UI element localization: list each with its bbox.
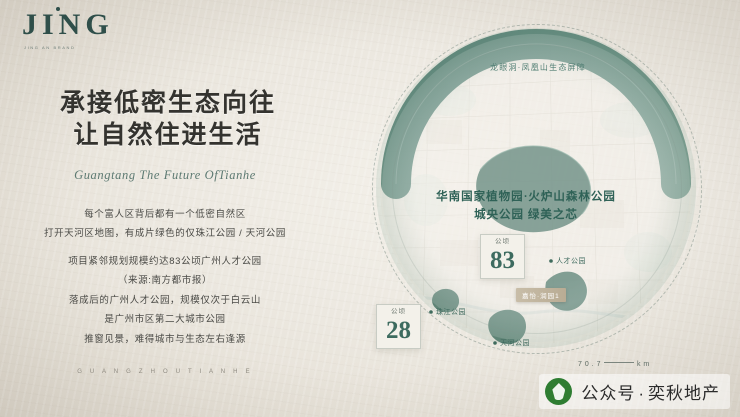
body-line-3: 项目紧邻规划规模约达83公顷广州人才公园 <box>0 252 330 271</box>
copy-spacer <box>0 244 330 252</box>
headline-line-1: 承接低密生态向往 <box>60 90 276 117</box>
map-pin-icon <box>492 340 498 346</box>
brand-logo-subtitle: JING AN BRAND <box>24 45 114 50</box>
subtitle-english: Guangtang The Future OfTianhe <box>0 168 330 183</box>
scale-value: 7 0 . 7 <box>578 361 601 368</box>
watermark: 公众号·奕秋地产 <box>539 374 730 409</box>
map-pin-icon <box>548 258 554 264</box>
headline-line-2: 让自然住进生活 <box>6 120 330 152</box>
copy-panel: 承接低密生态向往 让自然住进生活 Guangtang The Future Of… <box>0 88 330 375</box>
estate-marker: 嘉怡·润园1 <box>516 288 566 302</box>
scale-unit: k m <box>637 361 650 368</box>
poi-rencai-park: 人才公园 <box>548 256 586 266</box>
body-copy: 每个富人区背后都有一个低密自然区 打开天河区地图，有成片绿色的仅珠江公园 / 天… <box>0 205 330 349</box>
watermark-separator: · <box>638 384 645 403</box>
badge-value-83: 83 <box>490 248 515 273</box>
map-pin-icon <box>428 309 434 315</box>
body-line-4: （来源:南方都市报） <box>0 271 330 290</box>
central-park-label-line-2: 城央公园 绿美之芯 <box>436 206 616 224</box>
central-park-label-line-1: 华南国家植物园·火炉山森林公园 <box>436 188 616 206</box>
body-line-7: 推窗见景，难得城市与生态左右逢源 <box>0 330 330 349</box>
eco-barrier-label: 龙眼洞·凤凰山生态屏障 <box>490 62 586 73</box>
watermark-text: 公众号·奕秋地产 <box>581 379 720 404</box>
body-line-2: 打开天河区地图，有成片绿色的仅珠江公园 / 天河公园 <box>0 224 330 243</box>
wechat-leaf-logo-icon <box>545 378 572 405</box>
poi-label-tianhe: 天河公园 <box>500 340 530 347</box>
poi-tianhe-park: 天河公园 <box>492 338 530 348</box>
watermark-suffix: 奕秋地产 <box>648 384 720 403</box>
badge-unit-28: 公顷 <box>386 309 411 316</box>
logo-dot-icon <box>56 7 60 11</box>
poi-label-rencai: 人才公园 <box>556 258 586 265</box>
badge-value-28: 28 <box>386 318 411 343</box>
body-line-5: 落成后的广州人才公园，规模仅次于白云山 <box>0 291 330 310</box>
map-scale: 7 0 . 7k m <box>578 361 650 368</box>
badge-zhujiang-park-area: 公顷 28 <box>376 304 421 349</box>
badge-rencai-park-area: 公顷 83 <box>480 234 525 279</box>
footer-location-label: G U A N G Z H O U T I A N H E <box>0 369 330 375</box>
poi-zhujiang-park: 珠江公园 <box>428 307 466 317</box>
badge-unit-83: 公顷 <box>490 239 515 246</box>
scale-line-icon <box>604 362 634 363</box>
poi-label-zhujiang: 珠江公园 <box>436 309 466 316</box>
brand-logo-label: JING <box>22 8 114 41</box>
brand-logo: JING JING AN BRAND <box>22 10 114 50</box>
page-title: 承接低密生态向往 让自然住进生活 <box>6 88 330 152</box>
brand-logo-text: JING <box>22 10 114 40</box>
central-park-label: 华南国家植物园·火炉山森林公园 城央公园 绿美之芯 <box>436 188 616 225</box>
map-panel: 龙眼洞·凤凰山生态屏障 华南国家植物园·火炉山森林公园 城央公园 绿美之芯 公顷… <box>330 0 740 417</box>
body-line-1: 每个富人区背后都有一个低密自然区 <box>0 205 330 224</box>
body-line-6: 是广州市区第二大城市公园 <box>0 310 330 329</box>
slide-root: JING JING AN BRAND 承接低密生态向往 让自然住进生活 Guan… <box>0 0 740 417</box>
watermark-prefix: 公众号 <box>581 384 635 403</box>
